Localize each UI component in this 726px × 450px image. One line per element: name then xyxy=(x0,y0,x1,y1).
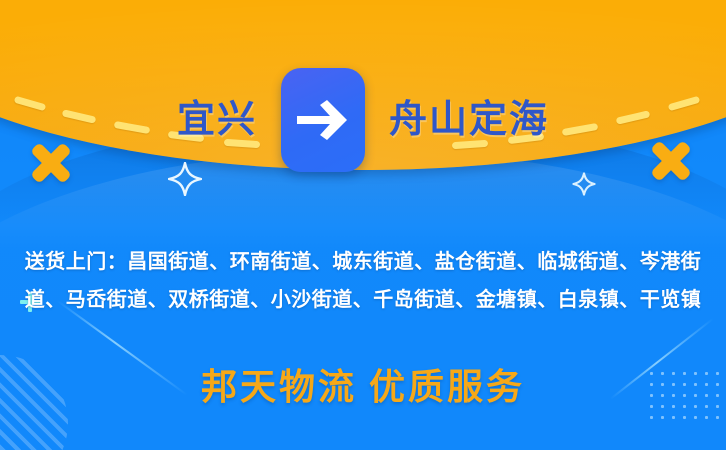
delivery-line-1: 送货上门：昌国街道、环南街道、城东街道、盐仓街道、临城街道、岑港街 xyxy=(18,243,708,281)
destination-city-label: 舟山定海 xyxy=(389,101,549,139)
delivery-line-2: 道、马岙街道、双桥街道、小沙街道、千岛街道、金塘镇、白泉镇、干览镇 xyxy=(18,281,708,319)
cross-icon-right xyxy=(648,138,694,184)
delivery-areas-text: 送货上门：昌国街道、环南街道、城东街道、盐仓街道、临城街道、岑港街 道、马岙街道… xyxy=(18,243,708,319)
sparkle-icon-right xyxy=(572,172,596,196)
origin-city-label: 宜兴 xyxy=(177,101,257,139)
arrow-right-icon xyxy=(281,68,365,172)
sparkle-icon-left xyxy=(168,162,202,196)
logistics-route-banner: 宜兴 舟山定海 送货上门：昌国街道、环南街道、城东街道、盐仓街道、临城街道、岑港… xyxy=(0,0,726,450)
route-header: 宜兴 舟山定海 xyxy=(0,78,726,162)
cross-icon-left xyxy=(28,140,74,186)
company-slogan: 邦天物流 优质服务 xyxy=(0,358,726,410)
